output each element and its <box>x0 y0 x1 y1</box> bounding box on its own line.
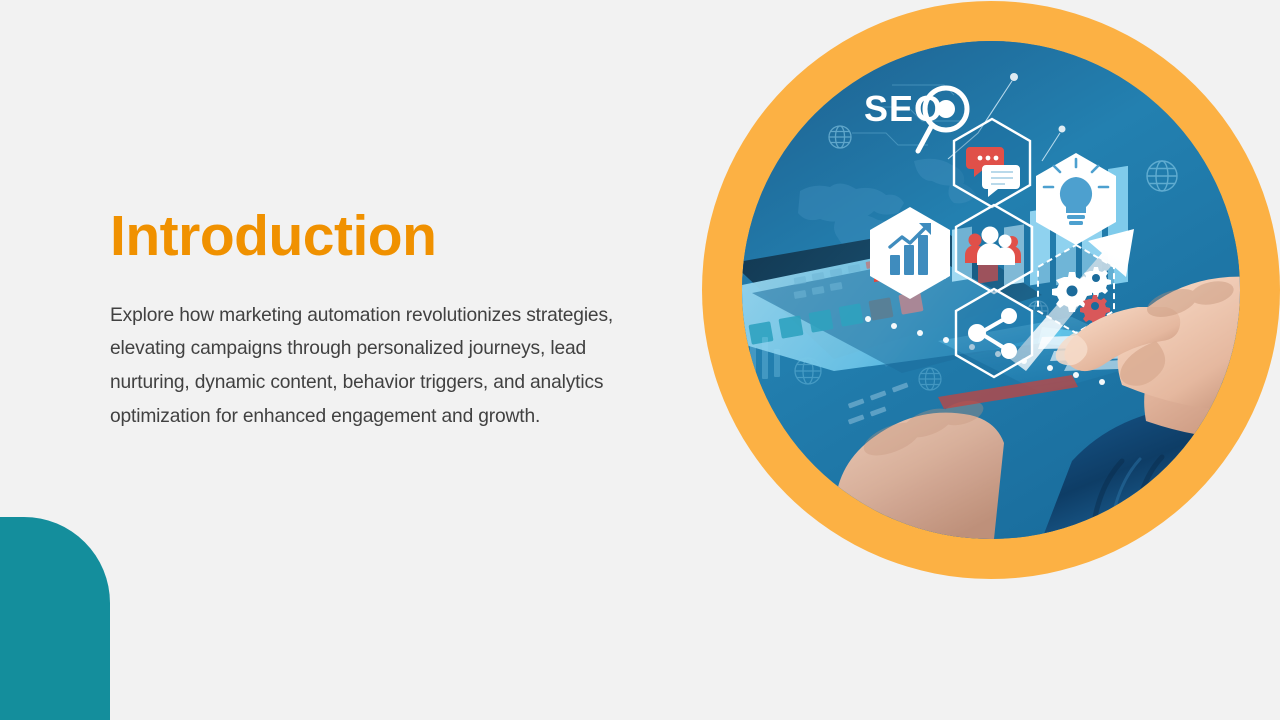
hero-image-circle: SEO <box>702 1 1280 579</box>
body-paragraph: Explore how marketing automation revolut… <box>110 299 640 434</box>
teal-accent-shape <box>0 517 110 720</box>
slide-canvas: Introduction Explore how marketing autom… <box>0 0 1280 720</box>
hero-photo: SEO <box>742 41 1240 539</box>
page-title: Introduction <box>110 206 640 268</box>
text-content-column: Introduction Explore how marketing autom… <box>110 206 640 434</box>
